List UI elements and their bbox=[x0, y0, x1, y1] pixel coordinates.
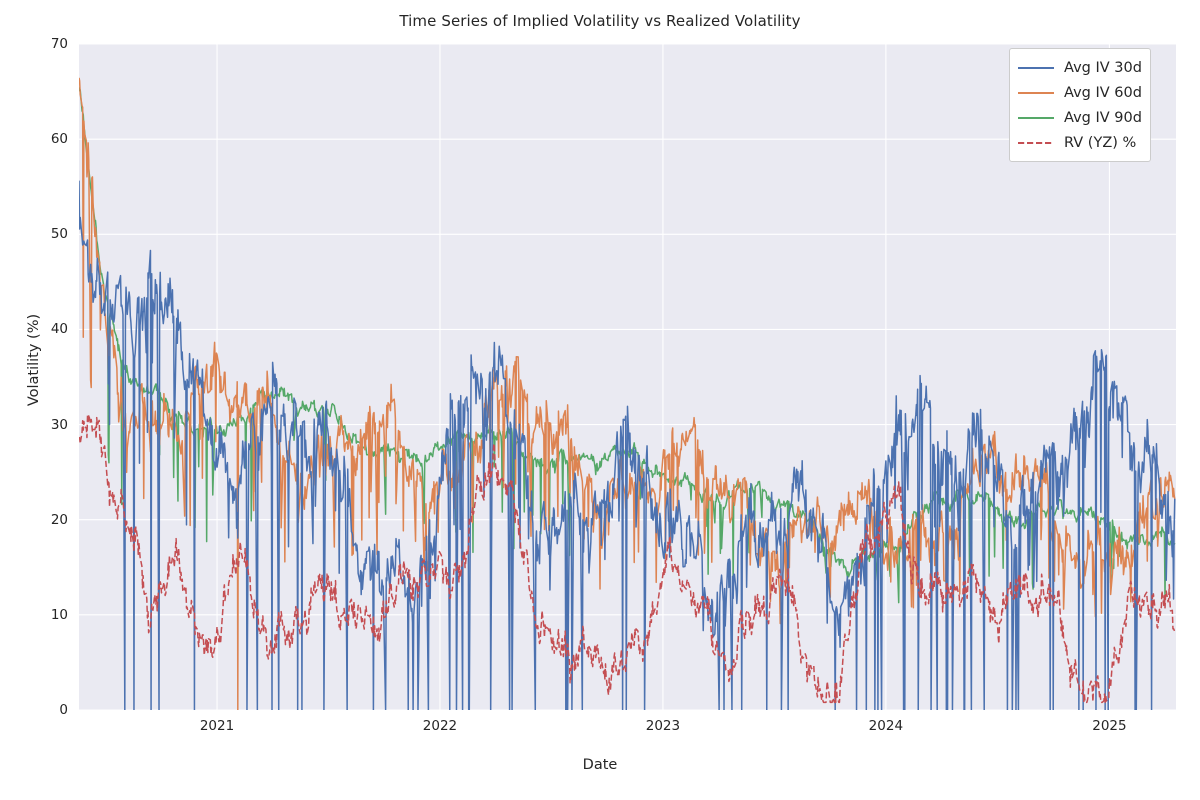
legend-item-avg-iv-30d[interactable]: Avg IV 30d bbox=[1017, 55, 1142, 80]
y-tick-label: 40 bbox=[8, 321, 68, 337]
chart-title: Time Series of Implied Volatility vs Rea… bbox=[0, 12, 1200, 30]
y-axis-label: Volatility (%) bbox=[26, 60, 42, 660]
y-tick-label: 60 bbox=[8, 131, 68, 147]
legend-swatch-icon bbox=[1017, 136, 1055, 150]
x-tick-label: 2023 bbox=[623, 718, 703, 734]
y-tick-label: 50 bbox=[8, 226, 68, 242]
legend-item-avg-iv-90d[interactable]: Avg IV 90d bbox=[1017, 105, 1142, 130]
x-tick-label: 2024 bbox=[846, 718, 926, 734]
legend-swatch-icon bbox=[1017, 61, 1055, 75]
x-axis-label: Date bbox=[0, 757, 1200, 773]
chart-legend: Avg IV 30dAvg IV 60dAvg IV 90dRV (YZ) % bbox=[1009, 48, 1151, 162]
legend-label: RV (YZ) % bbox=[1064, 135, 1136, 151]
chart-figure: Time Series of Implied Volatility vs Rea… bbox=[0, 0, 1200, 800]
x-tick-label: 2022 bbox=[400, 718, 480, 734]
legend-swatch-icon bbox=[1017, 86, 1055, 100]
legend-label: Avg IV 90d bbox=[1064, 110, 1142, 126]
y-tick-label: 70 bbox=[8, 36, 68, 52]
y-tick-label: 20 bbox=[8, 512, 68, 528]
legend-item-avg-iv-60d[interactable]: Avg IV 60d bbox=[1017, 80, 1142, 105]
legend-label: Avg IV 30d bbox=[1064, 60, 1142, 76]
y-tick-label: 0 bbox=[8, 702, 68, 718]
legend-swatch-icon bbox=[1017, 111, 1055, 125]
legend-item-rv-yz[interactable]: RV (YZ) % bbox=[1017, 130, 1142, 155]
x-tick-label: 2021 bbox=[177, 718, 257, 734]
x-tick-label: 2025 bbox=[1069, 718, 1149, 734]
legend-label: Avg IV 60d bbox=[1064, 85, 1142, 101]
series-line-avg-iv-30d bbox=[79, 181, 1175, 710]
y-tick-label: 10 bbox=[8, 607, 68, 623]
y-tick-label: 30 bbox=[8, 417, 68, 433]
